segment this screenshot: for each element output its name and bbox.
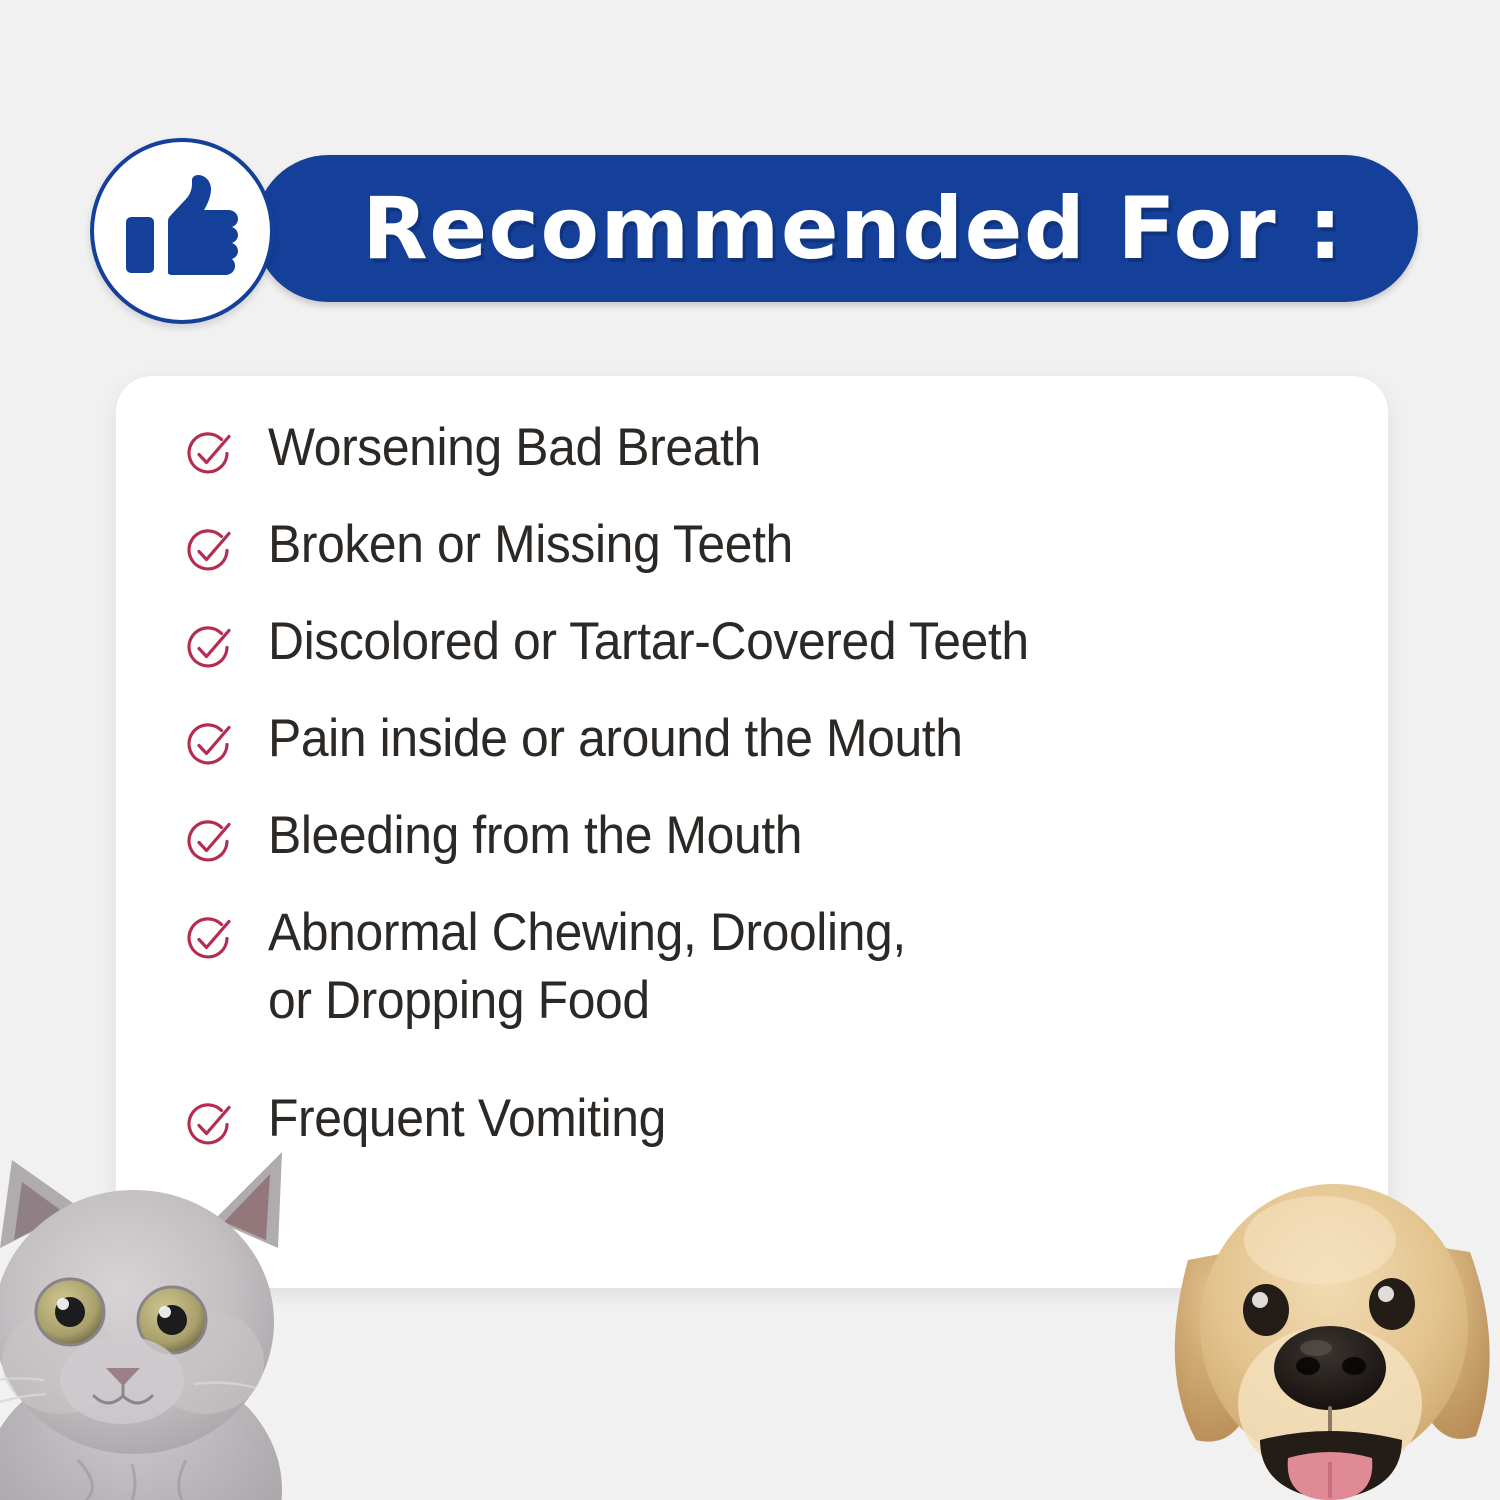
puppy-photo bbox=[1170, 1140, 1500, 1500]
list-item: Bleeding from the Mouth bbox=[184, 802, 1344, 899]
check-circle-icon bbox=[184, 414, 268, 480]
recommended-banner: Recommended For : bbox=[88, 138, 1418, 326]
banner-title: Recommended For : bbox=[299, 156, 1408, 302]
list-item: Worsening Bad Breath bbox=[184, 414, 1344, 511]
list-item-label: Pain inside or around the Mouth bbox=[268, 705, 963, 773]
kitten-photo bbox=[0, 1130, 302, 1500]
check-circle-icon bbox=[184, 511, 268, 577]
list-item-label: Bleeding from the Mouth bbox=[268, 802, 802, 870]
thumbs-up-icon bbox=[124, 175, 240, 287]
check-circle-icon bbox=[184, 705, 268, 771]
list-item-label: Worsening Bad Breath bbox=[268, 414, 761, 482]
list-item-label: Abnormal Chewing, Drooling, or Dropping … bbox=[268, 899, 906, 1035]
thumbs-up-badge bbox=[90, 138, 274, 324]
list-item: Pain inside or around the Mouth bbox=[184, 705, 1344, 802]
list-item: Discolored or Tartar-Covered Teeth bbox=[184, 608, 1344, 705]
infographic-canvas: Recommended For : bbox=[0, 0, 1500, 1500]
list-item: Abnormal Chewing, Drooling, or Dropping … bbox=[184, 899, 1344, 1063]
list-item: Broken or Missing Teeth bbox=[184, 511, 1344, 608]
list-item-label: Discolored or Tartar-Covered Teeth bbox=[268, 608, 1029, 676]
symptom-list: Worsening Bad Breath Broken or Missing T… bbox=[184, 414, 1344, 1182]
check-circle-icon bbox=[184, 608, 268, 674]
list-item-label: Frequent Vomiting bbox=[268, 1085, 666, 1153]
check-circle-icon bbox=[184, 802, 268, 868]
check-circle-icon bbox=[184, 899, 268, 965]
list-item-label: Broken or Missing Teeth bbox=[268, 511, 793, 579]
